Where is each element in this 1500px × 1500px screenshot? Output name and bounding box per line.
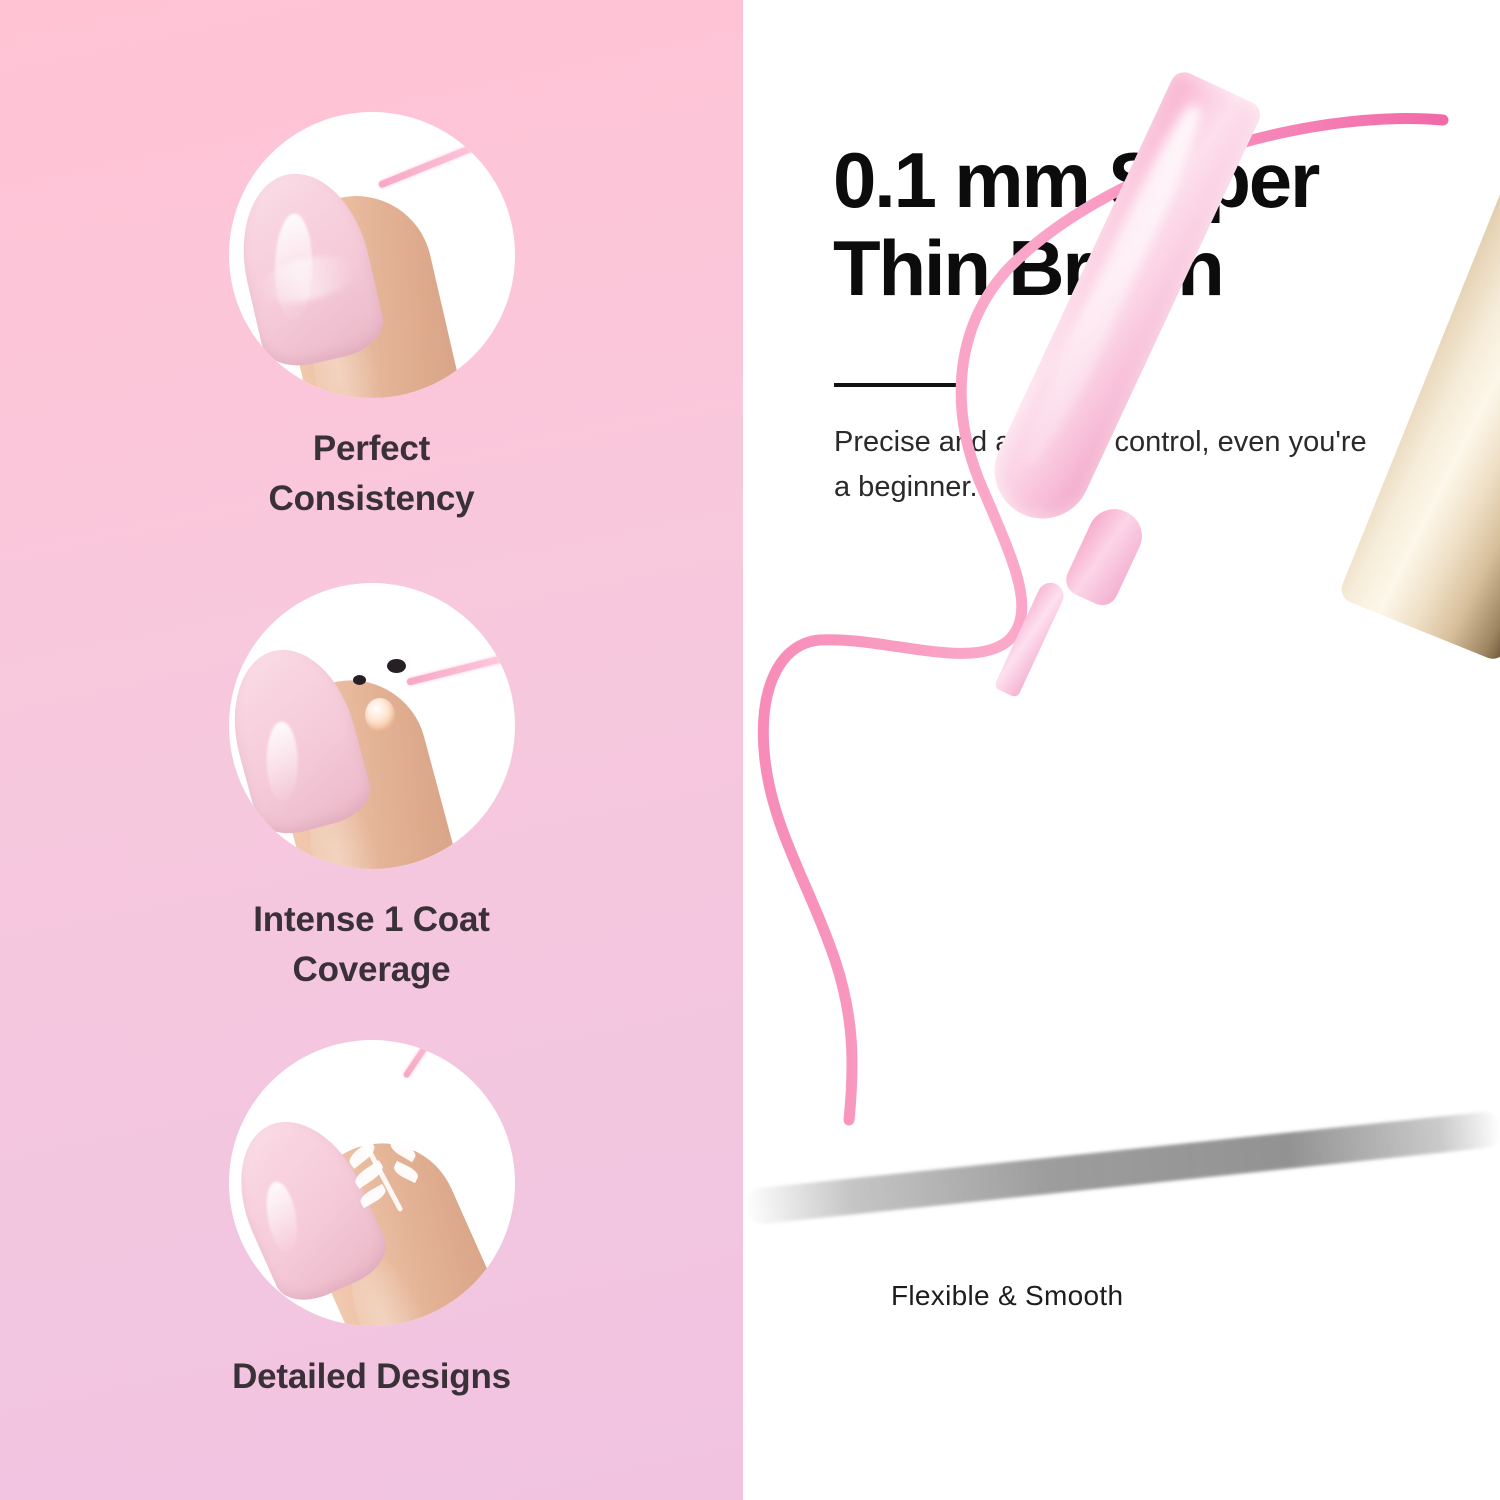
nail-dotted-bead-art-image: [229, 583, 515, 869]
feature-label-2-line2: Coverage: [0, 945, 743, 995]
feature-label-3-line1: Detailed Designs: [0, 1352, 743, 1402]
feature-item-1: Perfect Consistency: [0, 112, 743, 523]
nail-bead-gem: [365, 698, 395, 732]
brush-caption: Flexible & Smooth: [891, 1280, 1123, 1312]
feature-label-1-line1: Perfect: [0, 424, 743, 474]
nail-glossy-pink-closeup-image: [229, 112, 515, 398]
feature-label-1: Perfect Consistency: [0, 424, 743, 523]
nail-dot-small: [353, 675, 366, 685]
polish-stroke: [402, 1040, 470, 1079]
nail-shape: [229, 636, 377, 842]
feature-label-1-line2: Consistency: [0, 474, 743, 524]
nail-shape: [229, 161, 389, 374]
feature-label-3: Detailed Designs: [0, 1352, 743, 1402]
polish-stroke: [406, 647, 515, 686]
features-panel: Perfect Consistency Intense 1 Coat Cover…: [0, 0, 743, 1500]
feature-label-2-line1: Intense 1 Coat: [0, 895, 743, 945]
nail-dot-large: [387, 659, 406, 673]
nail-leaf-design-image: [229, 1040, 515, 1326]
product-feature-infographic: Perfect Consistency Intense 1 Coat Cover…: [0, 0, 1500, 1500]
product-hero-panel: 0.1 mm Super Thin Brush Precise and accu…: [743, 0, 1500, 1500]
nail-gloss-highlight: [261, 1180, 301, 1255]
nail-gloss-highlight: [265, 722, 297, 803]
feature-item-3: Detailed Designs: [0, 1040, 743, 1402]
feature-label-2: Intense 1 Coat Coverage: [0, 895, 743, 994]
feature-item-2: Intense 1 Coat Coverage: [0, 583, 743, 994]
polish-stroke: [377, 122, 514, 188]
